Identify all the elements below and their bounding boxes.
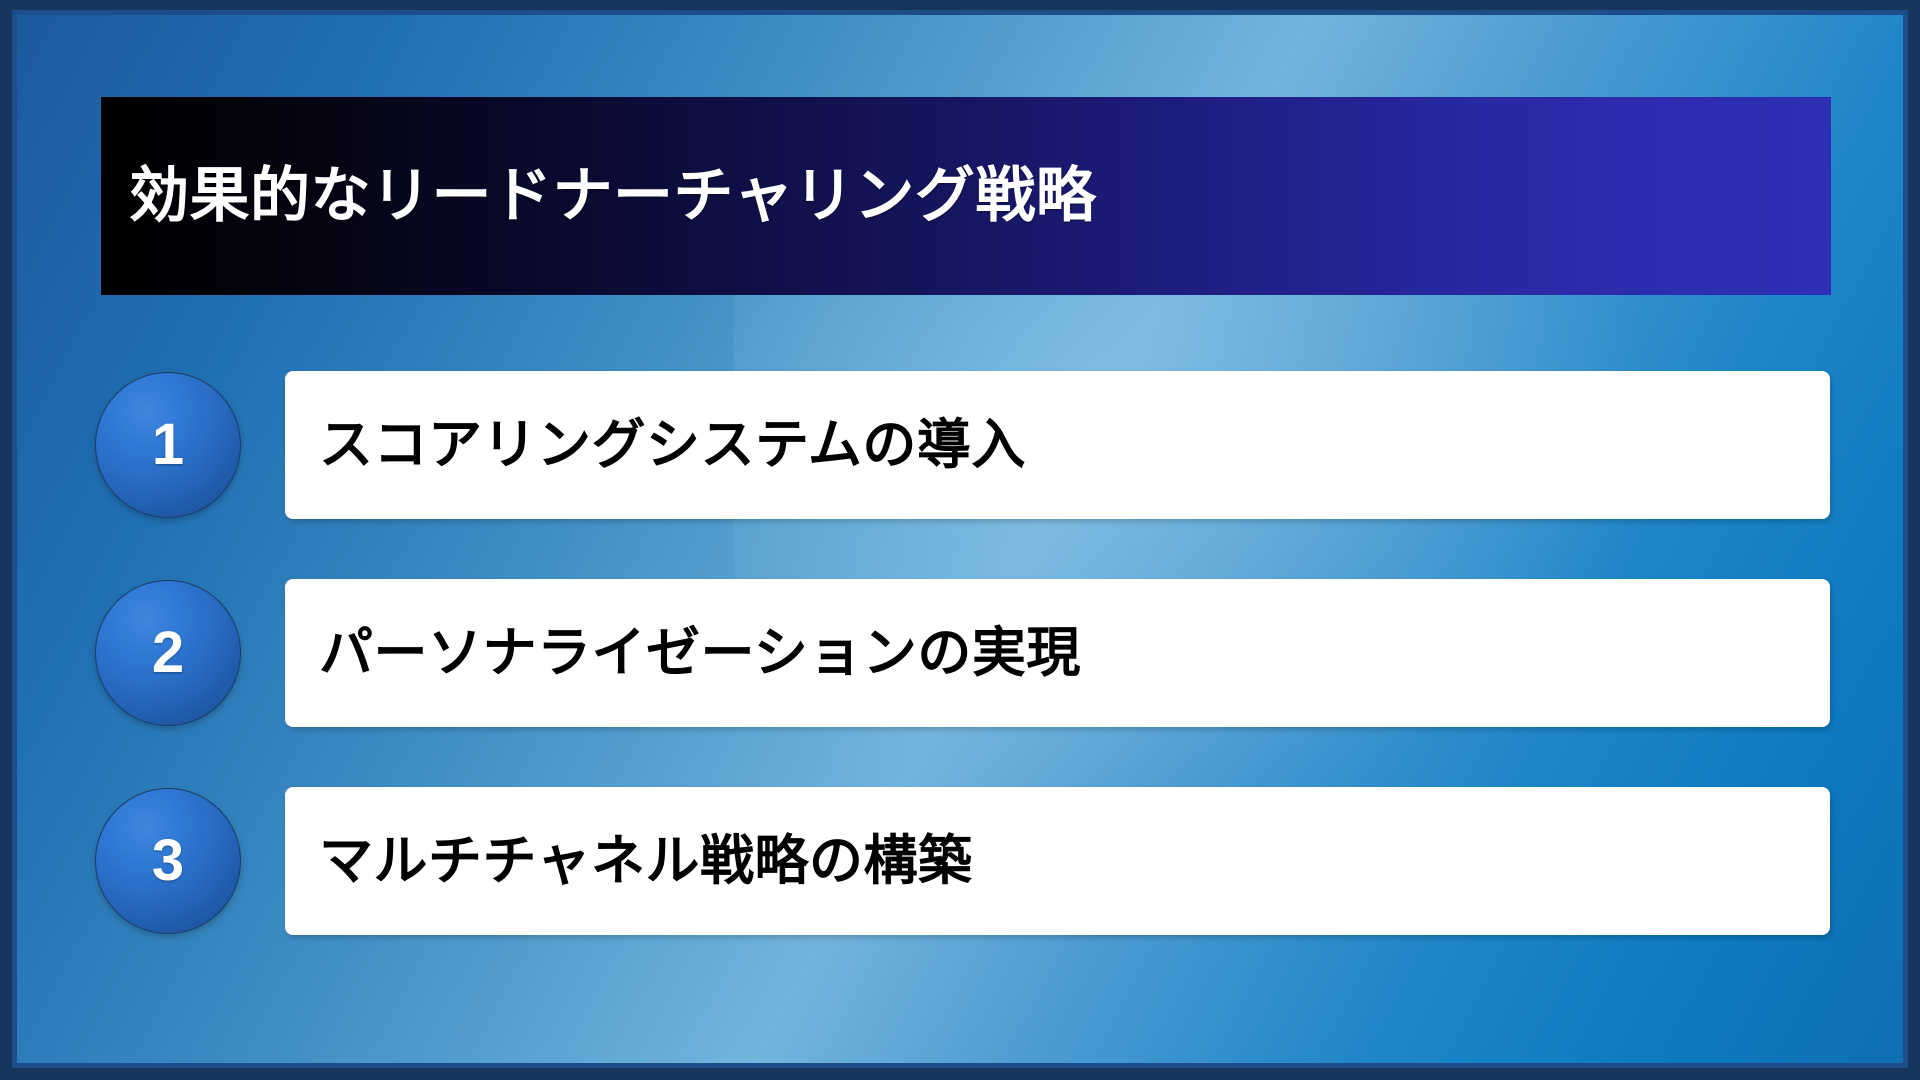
item-label-2: パーソナライゼーションの実現 bbox=[319, 622, 1081, 684]
item-number-badge-2: 2 bbox=[95, 580, 241, 726]
title-banner: 効果的なリードナーチャリング戦略 bbox=[101, 97, 1831, 295]
item-number-badge-3: 3 bbox=[95, 788, 241, 934]
list-item[interactable]: 3 マルチチャネル戦略の構築 bbox=[17, 787, 1903, 935]
item-card-2[interactable]: パーソナライゼーションの実現 bbox=[285, 579, 1830, 727]
list-item[interactable]: 1 スコアリングシステムの導入 bbox=[17, 371, 1903, 519]
slide-canvas: 効果的なリードナーチャリング戦略 1 スコアリングシステムの導入 2 パーソナラ… bbox=[12, 10, 1908, 1068]
list-item[interactable]: 2 パーソナライゼーションの実現 bbox=[17, 579, 1903, 727]
item-card-3[interactable]: マルチチャネル戦略の構築 bbox=[285, 787, 1830, 935]
item-card-1[interactable]: スコアリングシステムの導入 bbox=[285, 371, 1830, 519]
item-label-3: マルチチャネル戦略の構築 bbox=[319, 830, 972, 892]
slide-title: 効果的なリードナーチャリング戦略 bbox=[101, 163, 1096, 229]
slide: 効果的なリードナーチャリング戦略 1 スコアリングシステムの導入 2 パーソナラ… bbox=[0, 0, 1920, 1080]
item-label-1: スコアリングシステムの導入 bbox=[319, 414, 1026, 476]
item-number-badge-1: 1 bbox=[95, 372, 241, 518]
numbered-item-list: 1 スコアリングシステムの導入 2 パーソナライゼーションの実現 3 マルチチャ… bbox=[17, 371, 1903, 935]
